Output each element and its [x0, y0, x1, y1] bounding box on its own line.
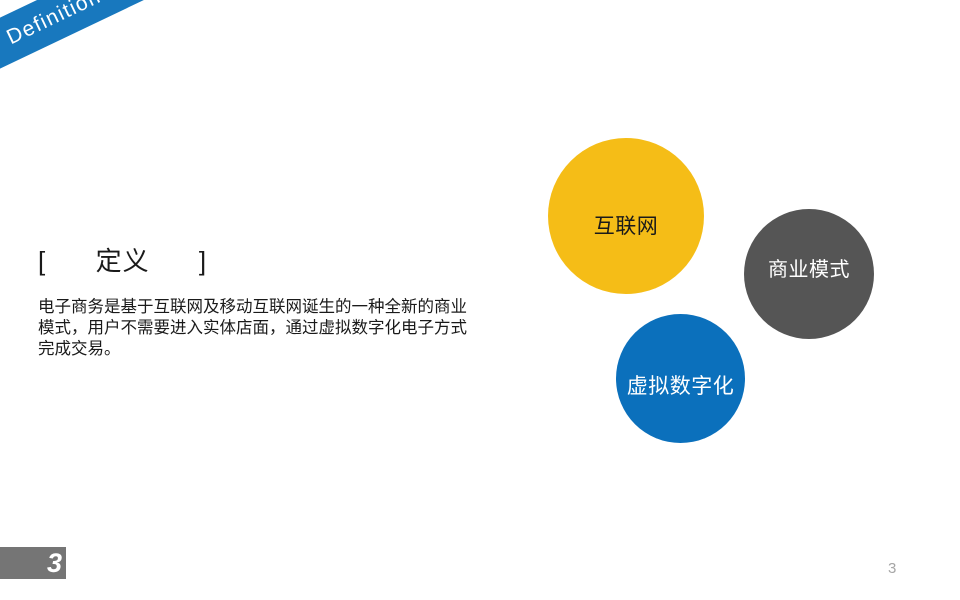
circle-digital: 虚拟数字化 [616, 314, 745, 443]
circle-business-model-label: 商业模式 [768, 260, 850, 280]
circle-internet: 互联网 [548, 138, 704, 294]
title-banner: Definition of E-commerce [0, 0, 345, 94]
page-number-badge: 3 [0, 547, 66, 579]
definition-heading: [ 定义 ] [38, 241, 207, 278]
circle-internet-label: 互联网 [594, 216, 659, 237]
definition-body-line-2: 模式，用户不需要进入实体店面，通过虚拟数字化电子方式 [38, 318, 538, 339]
page-number-badge-text: 3 [47, 548, 62, 578]
page-number: 3 [888, 560, 896, 577]
banner-title-text: Definition of E-commerce [0, 0, 261, 60]
circle-business-model: 商业模式 [744, 209, 874, 339]
slide-canvas: Definition of E-commerce [ 定义 ] 电子商务是基于互… [0, 0, 960, 600]
circle-digital-label: 虚拟数字化 [627, 376, 735, 397]
definition-body-line-3: 完成交易。 [38, 339, 538, 360]
definition-body: 电子商务是基于互联网及移动互联网诞生的一种全新的商业 模式，用户不需要进入实体店… [38, 297, 538, 360]
definition-body-line-1: 电子商务是基于互联网及移动互联网诞生的一种全新的商业 [38, 297, 538, 318]
